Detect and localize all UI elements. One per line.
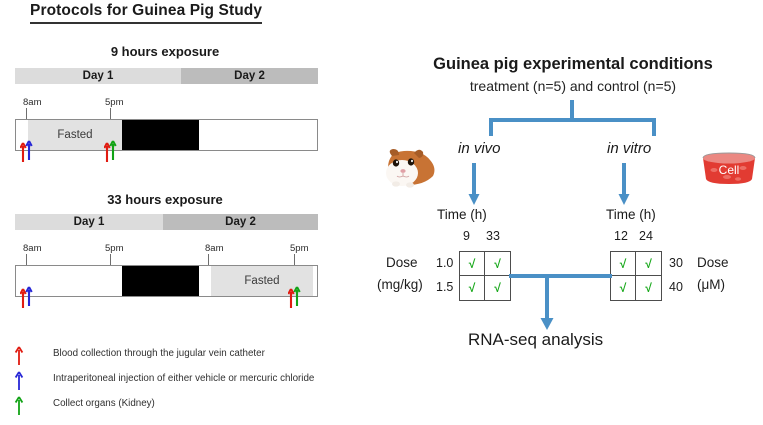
legend-label-collect-organs: Collect organs (Kidney) — [53, 398, 155, 409]
protocol-1-day1-label: Day 1 — [15, 68, 181, 84]
right-panel-subtitle: treatment (n=5) and control (n=5) — [383, 78, 763, 94]
up-arrow-icon-green — [14, 395, 25, 415]
protocol-1-marker-green-arrow-5pm — [109, 138, 118, 160]
protocol-1-tick-label-5pm: 5pm — [105, 97, 123, 108]
protocol-2-tick-label-5pm-1: 5pm — [105, 243, 123, 254]
bracket-horizontal — [489, 118, 656, 122]
in-vivo-dose-label-line2: (mg/kg) — [377, 277, 423, 292]
right-panel-title: Guinea pig experimental conditions — [383, 55, 763, 74]
in-vivo-check-2-9: √ — [460, 276, 485, 300]
protocol-2-exposure-block — [122, 266, 199, 296]
page-title: Protocols for Guinea Pig Study — [30, 2, 262, 24]
protocol-2-day-header: Day 1 Day 2 — [15, 214, 318, 230]
in-vitro-condition-grid: √ √ √ √ — [610, 251, 662, 301]
branch-label-in-vitro: in vitro — [607, 140, 651, 157]
in-vitro-check-1-12: √ — [611, 252, 636, 276]
in-vitro-dose-value-30: 30 — [669, 256, 683, 270]
in-vitro-time-value-12: 12 — [614, 229, 628, 243]
in-vivo-dose-value-1.0: 1.0 — [436, 256, 453, 270]
in-vivo-time-header: Time (h) — [437, 207, 487, 222]
in-vivo-check-1-33: √ — [485, 252, 510, 276]
protocol-1-tick-label-8am: 8am — [23, 97, 41, 108]
protocol-1-day-header: Day 1 Day 2 — [15, 68, 318, 84]
in-vitro-check-2-12: √ — [611, 276, 636, 300]
in-vitro-dose-value-40: 40 — [669, 280, 683, 294]
up-arrow-icon-red — [14, 345, 25, 365]
protocol-2-marker-green-arrow-5pm — [293, 284, 302, 306]
in-vivo-time-value-9: 9 — [463, 229, 470, 243]
in-vivo-dose-value-1.5: 1.5 — [436, 280, 453, 294]
arrow-down-in-vivo — [467, 163, 481, 207]
protocol-1-day2-label: Day 2 — [181, 68, 318, 84]
cell-dish-label: Cell — [719, 163, 740, 177]
protocol-1-exposure-block — [122, 120, 199, 150]
branch-label-in-vivo: in vivo — [458, 140, 501, 157]
in-vivo-condition-grid: √ √ √ √ — [459, 251, 511, 301]
arrow-down-in-vitro — [617, 163, 631, 207]
protocol-2-title: 33 hours exposure — [0, 192, 330, 207]
in-vivo-check-1-9: √ — [460, 252, 485, 276]
legend-label-blood-collection: Blood collection through the jugular vei… — [53, 348, 265, 359]
in-vitro-dose-label-line2: (μM) — [697, 277, 725, 292]
bracket-drop-right — [652, 118, 656, 136]
protocol-2-day2-label: Day 2 — [163, 214, 318, 230]
protocol-1-marker-blue-arrow-8am — [25, 138, 34, 160]
bracket-stem — [570, 100, 574, 118]
protocol-2-tick-label-5pm-2: 5pm — [290, 243, 308, 254]
outcome-label: RNA-seq analysis — [468, 330, 603, 350]
legend-label-injection: Intraperitoneal injection of either vehi… — [53, 373, 314, 384]
protocol-1-title: 9 hours exposure — [0, 44, 330, 59]
bracket-drop-left — [489, 118, 493, 136]
up-arrow-icon-blue — [14, 370, 25, 390]
in-vitro-dose-label-line1: Dose — [697, 255, 729, 270]
protocol-2-marker-blue-arrow-8am — [25, 284, 34, 306]
guinea-pig-illustration — [378, 140, 440, 188]
in-vivo-dose-label-line1: Dose — [386, 255, 418, 270]
merge-line-left — [509, 274, 612, 278]
in-vitro-time-value-24: 24 — [639, 229, 653, 243]
arrow-down-rna-seq — [538, 305, 556, 331]
protocol-2-timeline: Fasted — [15, 265, 318, 297]
protocol-1-timeline: Fasted — [15, 119, 318, 151]
protocol-2-tick-label-8am-2: 8am — [205, 243, 223, 254]
in-vitro-check-2-24: √ — [636, 276, 661, 300]
in-vivo-check-2-33: √ — [485, 276, 510, 300]
protocol-2-day1-label: Day 1 — [15, 214, 163, 230]
in-vivo-time-value-33: 33 — [486, 229, 500, 243]
in-vitro-time-header: Time (h) — [606, 207, 656, 222]
cell-culture-dish-illustration: Cell — [700, 150, 758, 186]
protocol-2-tick-label-8am-1: 8am — [23, 243, 41, 254]
in-vitro-check-1-24: √ — [636, 252, 661, 276]
